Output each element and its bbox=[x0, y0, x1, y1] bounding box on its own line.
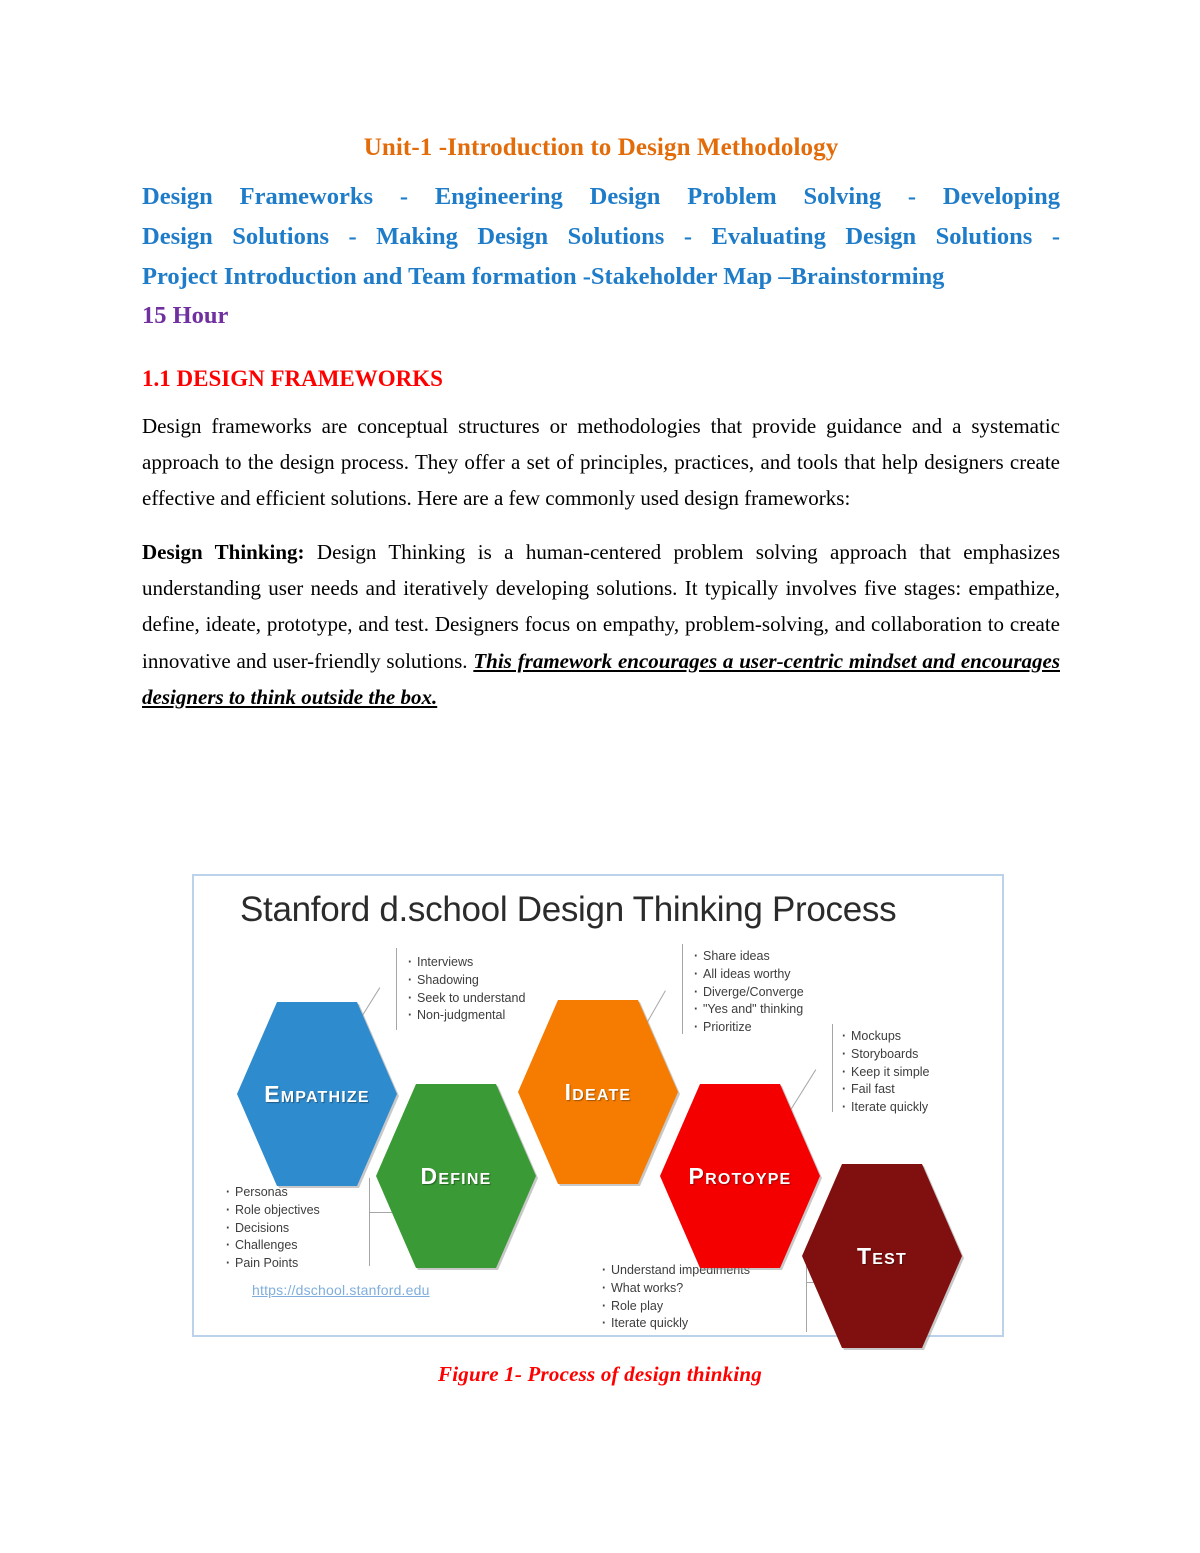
callout-item: Non-judgmental bbox=[408, 1007, 525, 1025]
callout-item: Role play bbox=[602, 1298, 750, 1316]
leader-line-ideate bbox=[682, 944, 683, 1034]
syllabus-line-1: Design Frameworks - Engineering Design P… bbox=[142, 177, 1060, 217]
section-heading-1-1: 1.1 DESIGN FRAMEWORKS bbox=[142, 364, 1060, 394]
callout-item: Iterate quickly bbox=[602, 1315, 750, 1333]
hexagon-label-define: Define bbox=[421, 1163, 492, 1190]
paragraph-design-frameworks: Design frameworks are conceptual structu… bbox=[142, 408, 1060, 516]
callout-item: Challenges bbox=[226, 1237, 320, 1255]
syllabus-line-2: Design Solutions - Making Design Solutio… bbox=[142, 217, 1060, 257]
callout-ideate: Share ideas All ideas worthy Diverge/Con… bbox=[694, 948, 804, 1037]
leader-line-protoype bbox=[832, 1024, 833, 1112]
callout-item: What works? bbox=[602, 1280, 750, 1298]
leader-line-define bbox=[369, 1178, 370, 1266]
page-title: Unit-1 -Introduction to Design Methodolo… bbox=[142, 132, 1060, 163]
hexagon-protoype[interactable]: Protoype bbox=[660, 1084, 820, 1268]
hexagon-empathize[interactable]: Empathize bbox=[237, 1002, 397, 1186]
leader-diagonal-protoype bbox=[790, 1069, 816, 1110]
syllabus-line-3: Project Introduction and Team formation … bbox=[142, 257, 1060, 297]
hexagon-label-ideate: Ideate bbox=[565, 1079, 632, 1106]
hexagon-define[interactable]: Define bbox=[376, 1084, 536, 1268]
callout-item: Role objectives bbox=[226, 1202, 320, 1220]
callout-item: Seek to understand bbox=[408, 990, 525, 1008]
callout-item: All ideas worthy bbox=[694, 966, 804, 984]
callout-item: Pain Points bbox=[226, 1255, 320, 1273]
callout-item: "Yes and" thinking bbox=[694, 1001, 804, 1019]
design-thinking-lead: Design Thinking: bbox=[142, 540, 305, 564]
leader-line-test bbox=[806, 1258, 807, 1332]
dschool-link[interactable]: https://dschool.stanford.edu bbox=[252, 1282, 430, 1298]
callout-define: Personas Role objectives Decisions Chall… bbox=[226, 1184, 320, 1273]
callout-item: Diverge/Converge bbox=[694, 984, 804, 1002]
callout-item: Keep it simple bbox=[842, 1064, 930, 1082]
document-page: Unit-1 -Introduction to Design Methodolo… bbox=[0, 0, 1200, 1553]
callout-protoype: Mockups Storyboards Keep it simple Fail … bbox=[842, 1028, 930, 1117]
unit-syllabus-block: Design Frameworks - Engineering Design P… bbox=[142, 177, 1060, 336]
callout-item: Interviews bbox=[408, 954, 525, 972]
callout-item: Shadowing bbox=[408, 972, 525, 990]
leader-line-empathize bbox=[396, 948, 397, 1030]
figure-design-thinking-process: Stanford d.school Design Thinking Proces… bbox=[192, 874, 1004, 1337]
hexagon-label-protoype: Protoype bbox=[689, 1163, 792, 1190]
callout-test: Understand impediments What works? Role … bbox=[602, 1262, 750, 1333]
callout-item: Decisions bbox=[226, 1220, 320, 1238]
callout-item: Mockups bbox=[842, 1028, 930, 1046]
callout-item: Iterate quickly bbox=[842, 1099, 930, 1117]
callout-empathize: Interviews Shadowing Seek to understand … bbox=[408, 954, 525, 1025]
callout-item: Share ideas bbox=[694, 948, 804, 966]
hexagon-label-empathize: Empathize bbox=[264, 1081, 370, 1108]
document-body: Unit-1 -Introduction to Design Methodolo… bbox=[142, 132, 1060, 733]
figure-caption: Figure 1- Process of design thinking bbox=[0, 1362, 1200, 1387]
hexagon-ideate[interactable]: Ideate bbox=[518, 1000, 678, 1184]
syllabus-hours: 15 Hour bbox=[142, 296, 1060, 336]
hexagon-label-test: Test bbox=[857, 1243, 907, 1270]
paragraph-design-thinking: Design Thinking: Design Thinking is a hu… bbox=[142, 534, 1060, 715]
callout-item: Storyboards bbox=[842, 1046, 930, 1064]
callout-item: Prioritize bbox=[694, 1019, 804, 1037]
callout-item: Fail fast bbox=[842, 1081, 930, 1099]
figure-title: Stanford d.school Design Thinking Proces… bbox=[240, 890, 896, 930]
hexagon-test[interactable]: Test bbox=[802, 1164, 962, 1348]
